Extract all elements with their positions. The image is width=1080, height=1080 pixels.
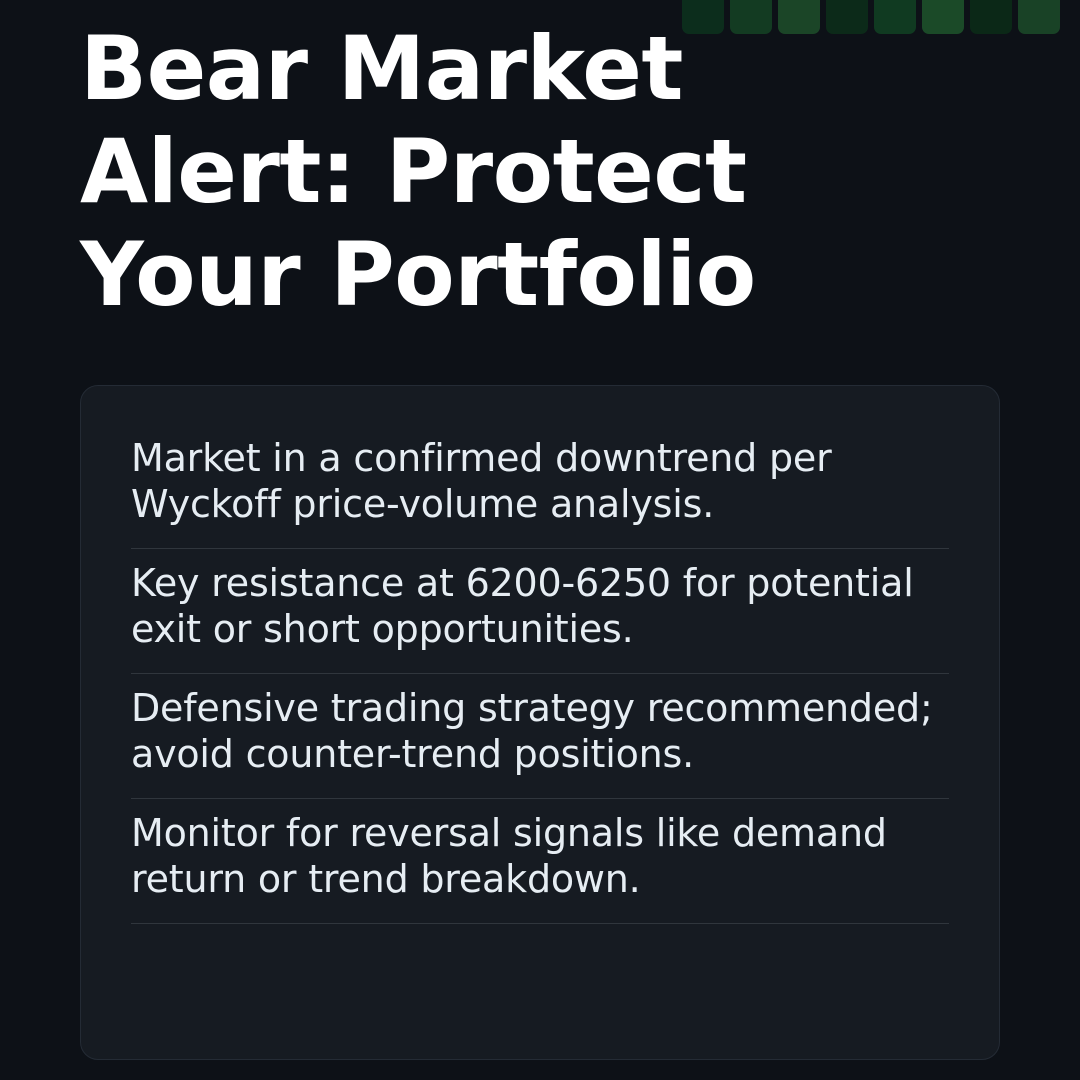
heatmap-cell-4 [826,0,868,34]
bullet-list: Market in a confirmed downtrend per Wyck… [131,424,949,924]
insight-card: Market in a confirmed downtrend per Wyck… [80,385,1000,1060]
bullet-text: Key resistance at 6200-6250 for potentia… [131,549,949,673]
bullet-text: Monitor for reversal signals like demand… [131,799,949,923]
bullet-item: Market in a confirmed downtrend per Wyck… [131,424,949,549]
heatmap-cell-8 [1018,0,1060,34]
heatmap-cell-6 [922,0,964,34]
bullet-item: Key resistance at 6200-6250 for potentia… [131,549,949,674]
page-title: Bear Market Alert: Protect Your Portfoli… [80,18,820,327]
bullet-text: Defensive trading strategy recommended; … [131,674,949,798]
heatmap-cell-5 [874,0,916,34]
bullet-item: Defensive trading strategy recommended; … [131,674,949,799]
bullet-divider [131,923,949,924]
bullet-text: Market in a confirmed downtrend per Wyck… [131,424,949,548]
bullet-item: Monitor for reversal signals like demand… [131,799,949,924]
heatmap-cell-7 [970,0,1012,34]
